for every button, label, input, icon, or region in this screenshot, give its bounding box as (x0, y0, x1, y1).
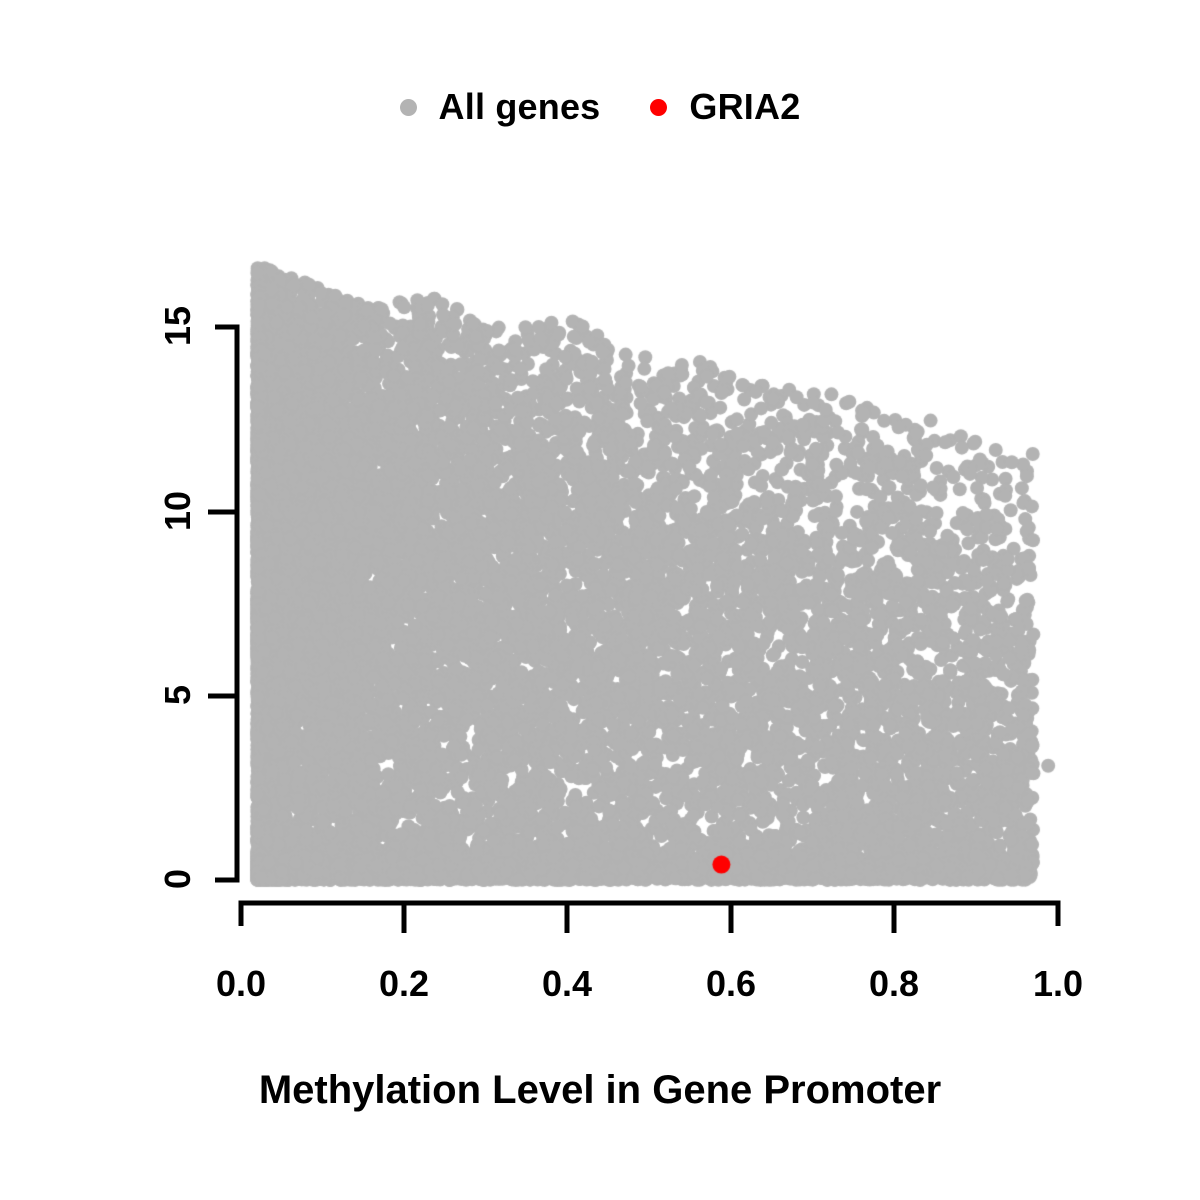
legend-item-all-genes: All genes (400, 86, 601, 128)
x-axis-tick-label-0-0: 0.0 (181, 963, 301, 1005)
x-axis-title: Methylation Level in Gene Promoter (0, 1068, 1200, 1113)
y-axis-tick-label-10: 10 (157, 461, 199, 561)
scatter-plot-canvas (0, 0, 1200, 1200)
legend-item-gria2: GRIA2 (650, 86, 800, 128)
y-axis-tick-label-0: 0 (157, 849, 199, 909)
legend-label-gria2: GRIA2 (689, 86, 800, 128)
x-axis-tick-label-1-0: 1.0 (998, 963, 1118, 1005)
y-axis-tick-label-5: 5 (157, 665, 199, 725)
x-axis-tick-label-0-4: 0.4 (507, 963, 627, 1005)
x-axis-tick-label-0-2: 0.2 (344, 963, 464, 1005)
y-axis-tick-label-15: 15 (157, 276, 199, 376)
scatter-plot-figure: 0 5 10 15 0.0 0.2 0.4 0.6 0.8 1.0 Methyl… (0, 0, 1200, 1200)
circle-marker-icon (650, 99, 667, 116)
circle-marker-icon (400, 99, 417, 116)
plot-legend: All genes GRIA2 (0, 72, 1200, 142)
x-axis-tick-label-0-8: 0.8 (834, 963, 954, 1005)
x-axis-tick-label-0-6: 0.6 (671, 963, 791, 1005)
legend-label-all-genes: All genes (439, 86, 601, 128)
